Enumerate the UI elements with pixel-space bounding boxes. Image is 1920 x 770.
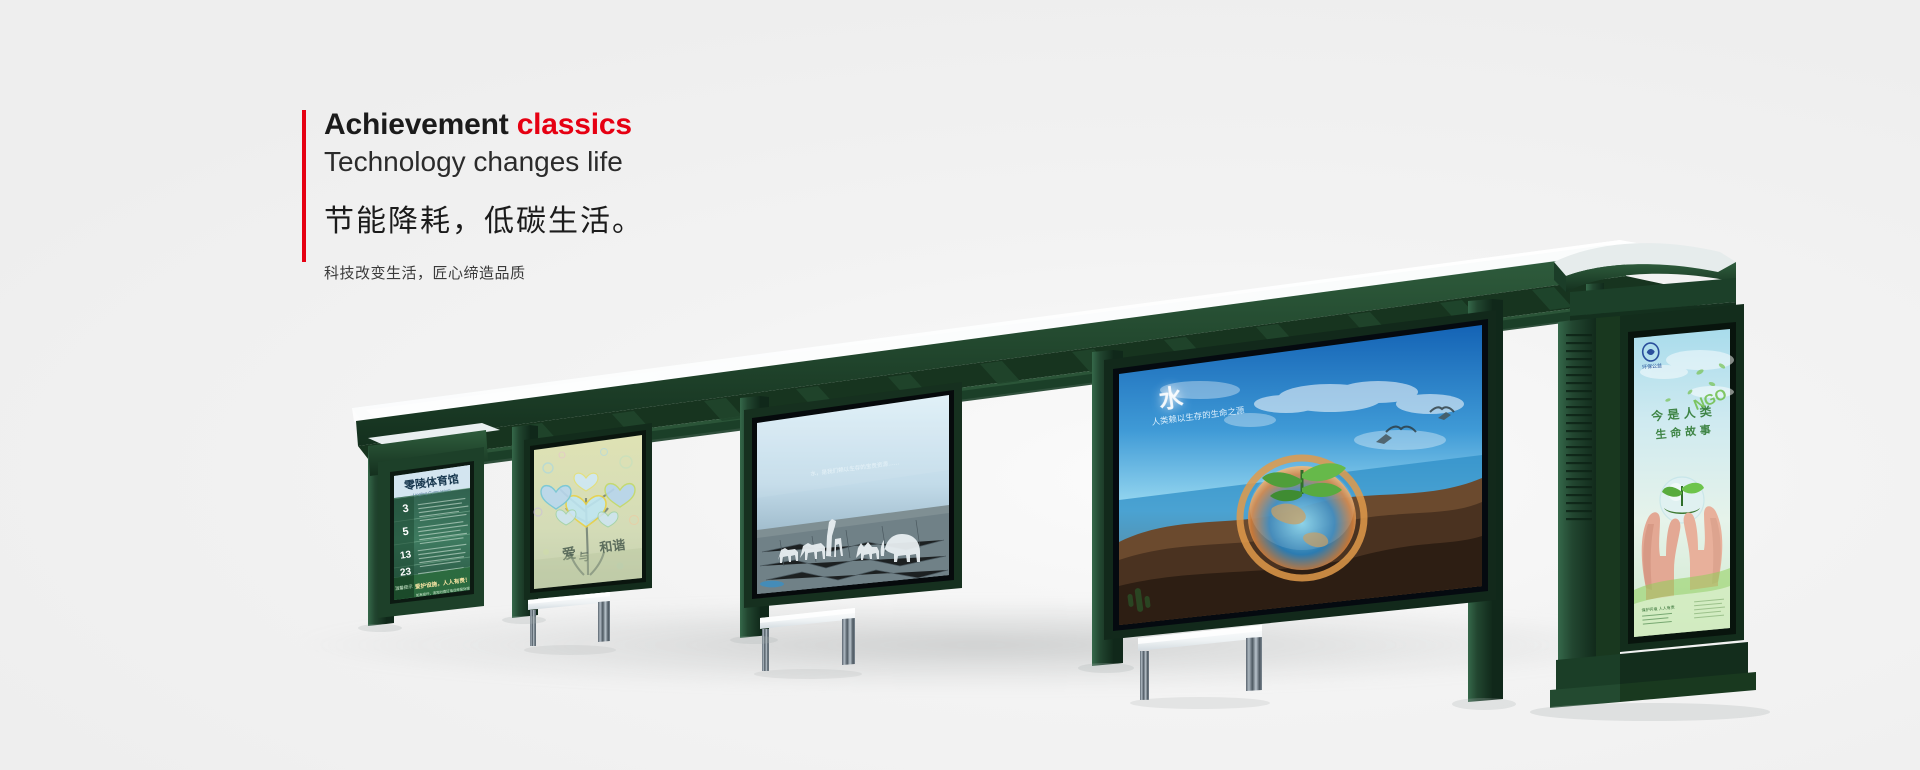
svg-text:零陵体育馆: 零陵体育馆 (402, 471, 459, 492)
headline-line-2: Technology changes life (324, 144, 644, 179)
headline-line-3: 节能降耗，低碳生活。 (324, 196, 644, 240)
svg-text:Lingling Gymnasium: Lingling Gymnasium (413, 487, 452, 497)
banner-stage: Achievement classics Technology changes … (0, 0, 1920, 770)
svg-text:5: 5 (402, 526, 410, 539)
svg-text:和谐: 和谐 (599, 537, 627, 556)
headline-line-1: Achievement classics (324, 108, 644, 141)
clouds (1224, 381, 1464, 427)
svg-text:水: 水 (1157, 383, 1185, 414)
billboard-water-animals: 水，是我们赖以生存的宝贵资源…… (744, 382, 962, 608)
bokeh (534, 449, 639, 570)
svg-text:温馨提示: 温馨提示 (395, 583, 414, 592)
shelter-column-1 (368, 444, 394, 626)
billboard-water-source: 水 人类赖以生存的生命之源 (1104, 310, 1496, 640)
svg-text:今 是 人 类: 今 是 人 类 (1650, 403, 1714, 424)
headline-line-1-black: Achievement (324, 108, 517, 141)
sprout (1262, 463, 1346, 501)
svg-text:13: 13 (399, 549, 412, 561)
kiosk-poster-title: 今 是 人 类 生 命 故 事 (1650, 403, 1715, 442)
tree-trunk (560, 489, 614, 575)
svg-text:水，是我们赖以生存的宝贵资源……: 水，是我们赖以生存的宝贵资源…… (810, 458, 900, 477)
kiosk-logo: 环保公益 (1640, 342, 1662, 371)
shelter-column-6 (1586, 283, 1604, 331)
birds (1386, 407, 1454, 432)
kiosk-poster (1634, 329, 1730, 637)
svg-text:人类赖以生存的生命之源: 人类赖以生存的生命之源 (1151, 405, 1246, 428)
svg-text:如有损坏，请及时拨打电话举报处理: 如有损坏，请及时拨打电话举报处理 (416, 585, 471, 597)
kiosk-vent-slats (1566, 334, 1592, 520)
ground-shadow (300, 600, 1660, 690)
svg-text:3: 3 (402, 503, 410, 516)
billboard-love-harmony-title: 爱 与 和谐 (561, 537, 627, 566)
timetable-rows: 3 5 13 23 (394, 488, 470, 581)
svg-text:23: 23 (399, 566, 412, 578)
accent-rule (302, 110, 306, 262)
svg-text:爱: 爱 (561, 546, 577, 564)
headline-line-4: 科技改变生活，匠心缔造品质 (324, 262, 644, 283)
kiosk-ngo-overlay: NGO (1691, 385, 1729, 414)
svg-text:与: 与 (578, 550, 591, 564)
hands-sprout (1642, 477, 1723, 600)
shelter-column-2 (512, 425, 538, 618)
billboard-love-harmony: 爱 与 和谐 (524, 423, 652, 600)
animal-silhouettes (778, 519, 920, 563)
headline-line-1-accent: classics (517, 108, 632, 141)
timetable-panel: 零陵体育馆 Lingling Gymnasium 3 5 13 23 (368, 423, 500, 618)
falling-leaves (1665, 362, 1726, 402)
heart-foliage (541, 473, 635, 527)
headline-block: Achievement classics Technology changes … (302, 108, 644, 283)
earth-sprout (1240, 458, 1364, 578)
svg-text:爱护设施，人人有责！: 爱护设施，人人有责！ (414, 575, 471, 590)
svg-text:环保公益: 环保公益 (1642, 362, 1663, 371)
ground-cracks (760, 520, 948, 580)
svg-text:生 命 故 事: 生 命 故 事 (1655, 422, 1712, 441)
roof-purlins (430, 287, 1572, 458)
